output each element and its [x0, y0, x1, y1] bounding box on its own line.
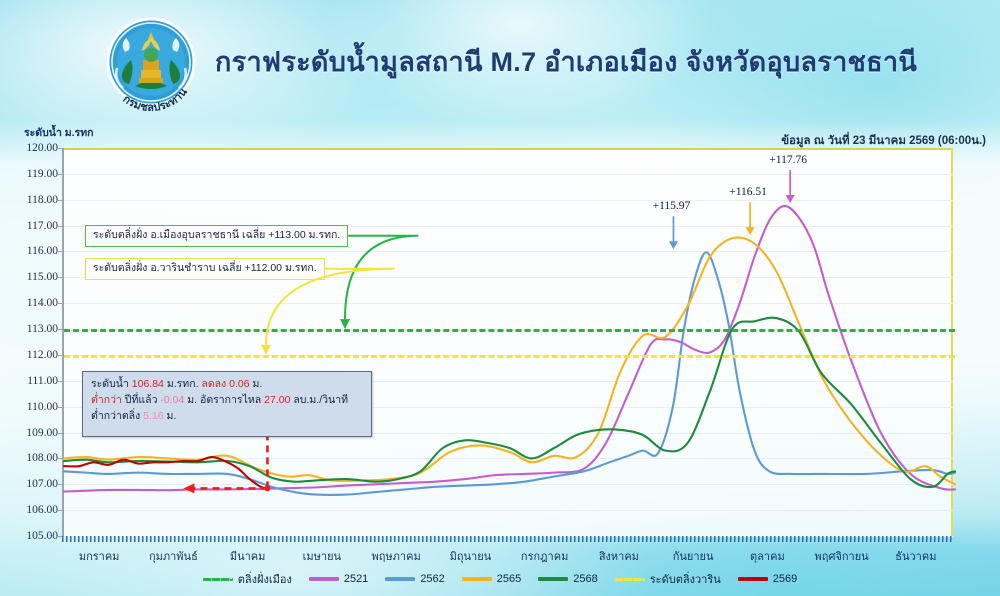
- legend-label: 2565: [497, 573, 521, 585]
- infobox-below-label: ต่ำกว่า: [91, 394, 122, 406]
- legend-label: 2562: [420, 573, 444, 585]
- infobox-line-3: ต่ำกว่าตลิ่ง 5.16 ม.: [91, 409, 363, 425]
- legend-item-2521[interactable]: 2521: [309, 573, 368, 585]
- legend-item-2569[interactable]: 2569: [738, 573, 797, 585]
- legend-swatch-icon: [615, 578, 645, 581]
- infobox-belowbank-unit: ม.: [167, 410, 177, 422]
- infobox-yoy-value: -0.04: [160, 394, 184, 406]
- legend-item-2568[interactable]: 2568: [538, 573, 597, 585]
- infobox-line-1: ระดับน้ำ 106.84 ม.รทก. ลดลง 0.06 ม.: [91, 377, 363, 393]
- legend-swatch-icon: [385, 577, 415, 581]
- legend-item-2562[interactable]: 2562: [385, 573, 444, 585]
- legend-swatch-icon: [309, 577, 339, 581]
- infobox-belowbank-label: ต่ำกว่าตลิ่ง: [91, 410, 140, 422]
- infobox-delta: 0.06: [229, 378, 249, 390]
- legend-swatch-icon: [462, 577, 492, 581]
- infobox-belowbank-value: 5.16: [143, 410, 163, 422]
- callout-arrow-bank-city-head: [340, 319, 350, 329]
- chart-legend: ตลิ่งฝั่งเมือง2521256225652568ระดับตลิ่ง…: [0, 566, 1000, 592]
- infobox-level-label: ระดับน้ำ: [91, 378, 129, 390]
- legend-item-2565[interactable]: 2565: [462, 573, 521, 585]
- infobox-level-unit: ม.รทก.: [167, 378, 199, 390]
- legend-item-ตลิ่งฝั่งเมือง[interactable]: ตลิ่งฝั่งเมือง: [203, 570, 292, 588]
- callout-connector-arrows: [0, 0, 1000, 596]
- infobox-level-value: 106.84: [132, 378, 164, 390]
- callout-arrow-bank-city: [345, 236, 418, 319]
- legend-label: ตลิ่งฝั่งเมือง: [238, 570, 292, 588]
- infobox-flow-unit: ลบ.ม./วินาที: [293, 394, 348, 406]
- legend-label: ระดับตลิ่งวาริน: [650, 570, 721, 588]
- legend-swatch-icon: [203, 578, 233, 581]
- infobox-lastyear-label: ปีที่แล้ว: [125, 394, 158, 406]
- legend-item-ระดับตลิ่งวาริน[interactable]: ระดับตลิ่งวาริน: [615, 570, 721, 588]
- infobox-flow-label: ม. อัตราการไหล: [187, 394, 261, 406]
- infobox-delta-unit: ม.: [253, 378, 263, 390]
- callout-arrow-bank-warin-head: [261, 345, 271, 355]
- current-reading-infobox: ระดับน้ำ 106.84 ม.รทก. ลดลง 0.06 ม. ต่ำก…: [82, 371, 372, 437]
- callout-arrow-bank-warin: [266, 269, 395, 345]
- infobox-flow-value: 27.00: [264, 394, 290, 406]
- legend-swatch-icon: [538, 577, 568, 581]
- legend-label: 2521: [344, 573, 368, 585]
- infobox-line-2: ต่ำกว่า ปีที่แล้ว -0.04 ม. อัตราการไหล 2…: [91, 393, 363, 409]
- legend-swatch-icon: [738, 577, 768, 581]
- infobox-trend: ลดลง: [201, 378, 226, 390]
- legend-label: 2569: [773, 573, 797, 585]
- screenshot-root: กรมชลประทาน กราฟระดับน้ำมูลสถานี M.7 อำเ…: [0, 0, 1000, 596]
- legend-label: 2568: [573, 573, 597, 585]
